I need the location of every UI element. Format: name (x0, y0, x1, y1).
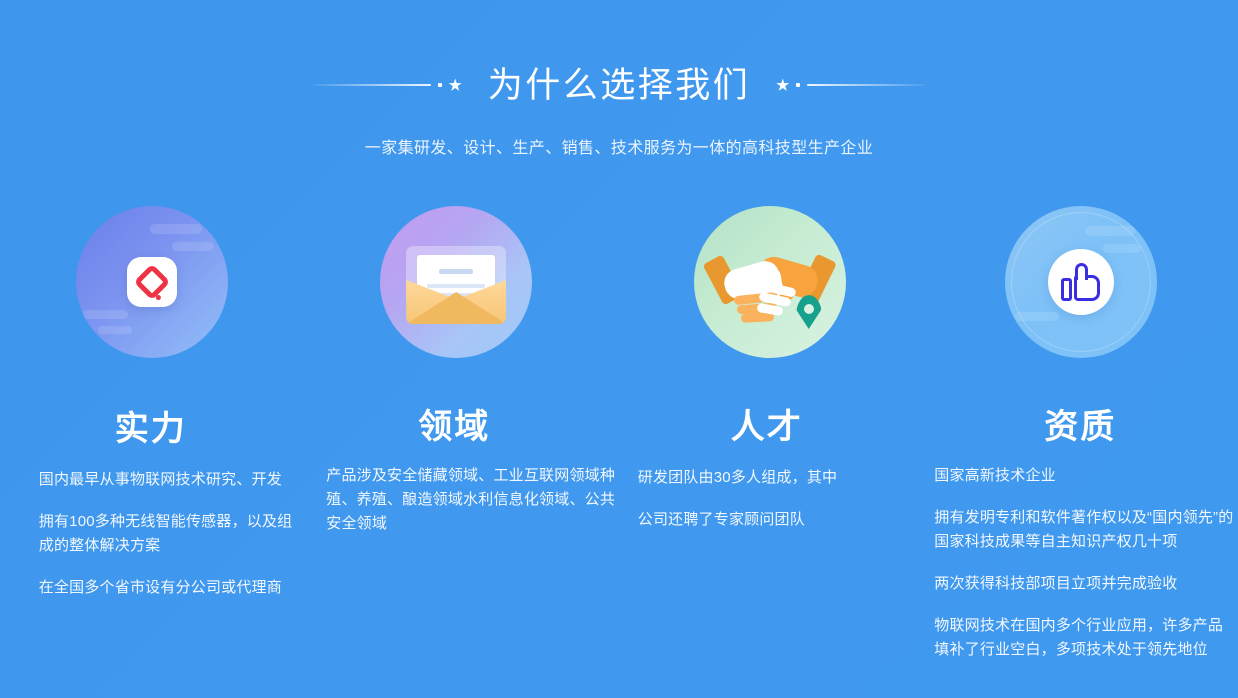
envelope-letter-icon (380, 206, 532, 358)
thumb-shape-icon (1061, 263, 1101, 301)
streak-decor (150, 224, 202, 234)
feature-column-strength: 实力 国内最早从事物联网技术研究、开发 拥有100多种无线智能传感器，以及组成的… (0, 206, 310, 680)
feature-column-talent: 人才 研发团队由30多人组成，其中 公司还聘了专家顾问团队 (619, 206, 929, 680)
section-header: 为什么选择我们 一家集研发、设计、生产、销售、技术服务为一体的高科技型生产企业 (0, 0, 1238, 158)
page-title: 为什么选择我们 (462, 68, 777, 103)
diamond-badge-icon (76, 206, 228, 358)
thumb-pad (1061, 278, 1072, 301)
handshake-graphic (712, 237, 828, 327)
feature-body-field: 产品涉及安全储藏领域、工业互联网领域种殖、养殖、酿造领域水利信息化领域、公共安全… (312, 464, 616, 554)
feature-line: 产品涉及安全储藏领域、工业互联网领域种殖、养殖、酿造领域水利信息化领域、公共安全… (326, 464, 616, 536)
diamond-shape-icon (133, 264, 170, 301)
thumbs-up-icon (1005, 206, 1157, 358)
letter-text-line (427, 284, 485, 288)
feature-line: 国内最早从事物联网技术研究、开发 (39, 468, 297, 492)
streak-decor (172, 242, 214, 251)
feature-line: 物联网技术在国内多个行业应用，许多产品填补了行业空白，多项技术处于领先地位 (934, 614, 1234, 662)
feature-line: 拥有100多种无线智能传感器，以及组成的整体解决方案 (39, 510, 297, 558)
feature-body-talent: 研发团队由30多人组成，其中 公司还聘了专家顾问团队 (624, 466, 924, 550)
decoration-right (776, 75, 925, 95)
decoration-line-right-icon (807, 84, 925, 86)
title-row: 为什么选择我们 (0, 62, 1238, 108)
envelope-graphic (402, 234, 510, 330)
feature-line: 研发团队由30多人组成，其中 (638, 466, 902, 490)
streak-decor (98, 326, 132, 334)
feature-body-qualification: 国家高新技术企业 拥有发明专利和软件著作权以及“国内领先”的国家科技成果等自主知… (928, 464, 1238, 680)
feature-line: 两次获得科技部项目立项并完成验收 (934, 572, 1234, 596)
feature-title-qualification: 资质 (1044, 410, 1116, 444)
decoration-dot-left-icon (438, 83, 442, 87)
feature-line: 在全国多个省市设有分公司或代理商 (39, 576, 297, 600)
feature-line: 公司还聘了专家顾问团队 (638, 508, 902, 532)
decoration-dot-right-icon (796, 83, 800, 87)
feature-title-field: 领域 (418, 410, 490, 444)
feature-columns: 实力 国内最早从事物联网技术研究、开发 拥有100多种无线智能传感器，以及组成的… (0, 206, 1238, 680)
feature-column-field: 领域 产品涉及安全储藏领域、工业互联网领域种殖、养殖、酿造领域水利信息化领域、公… (310, 206, 620, 680)
handshake-icon (694, 206, 846, 358)
feature-line: 拥有发明专利和软件著作权以及“国内领先”的国家科技成果等自主知识产权几十项 (934, 506, 1234, 554)
page-subtitle: 一家集研发、设计、生产、销售、技术服务为一体的高科技型生产企业 (0, 134, 1238, 158)
feature-body-strength: 国内最早从事物联网技术研究、开发 拥有100多种无线智能传感器，以及组成的整体解… (5, 468, 305, 618)
streak-decor (1015, 312, 1059, 321)
feature-line: 国家高新技术企业 (934, 464, 1234, 488)
decoration-line-left-icon (313, 84, 431, 86)
streak-decor (82, 310, 128, 319)
diamond-plate (127, 257, 177, 307)
location-pin-icon (796, 295, 822, 329)
streak-decor (1103, 244, 1141, 253)
star-right-icon (776, 79, 789, 92)
feature-title-strength: 实力 (115, 412, 187, 446)
decoration-left (313, 75, 462, 95)
star-left-icon (449, 79, 462, 92)
feature-title-talent: 人才 (731, 410, 803, 444)
feature-column-qualification: 资质 国家高新技术企业 拥有发明专利和软件著作权以及“国内领先”的国家科技成果等… (929, 206, 1238, 680)
thumb-up-finger (1075, 263, 1088, 280)
letter-title-line (439, 269, 473, 274)
streak-decor (1085, 226, 1135, 236)
